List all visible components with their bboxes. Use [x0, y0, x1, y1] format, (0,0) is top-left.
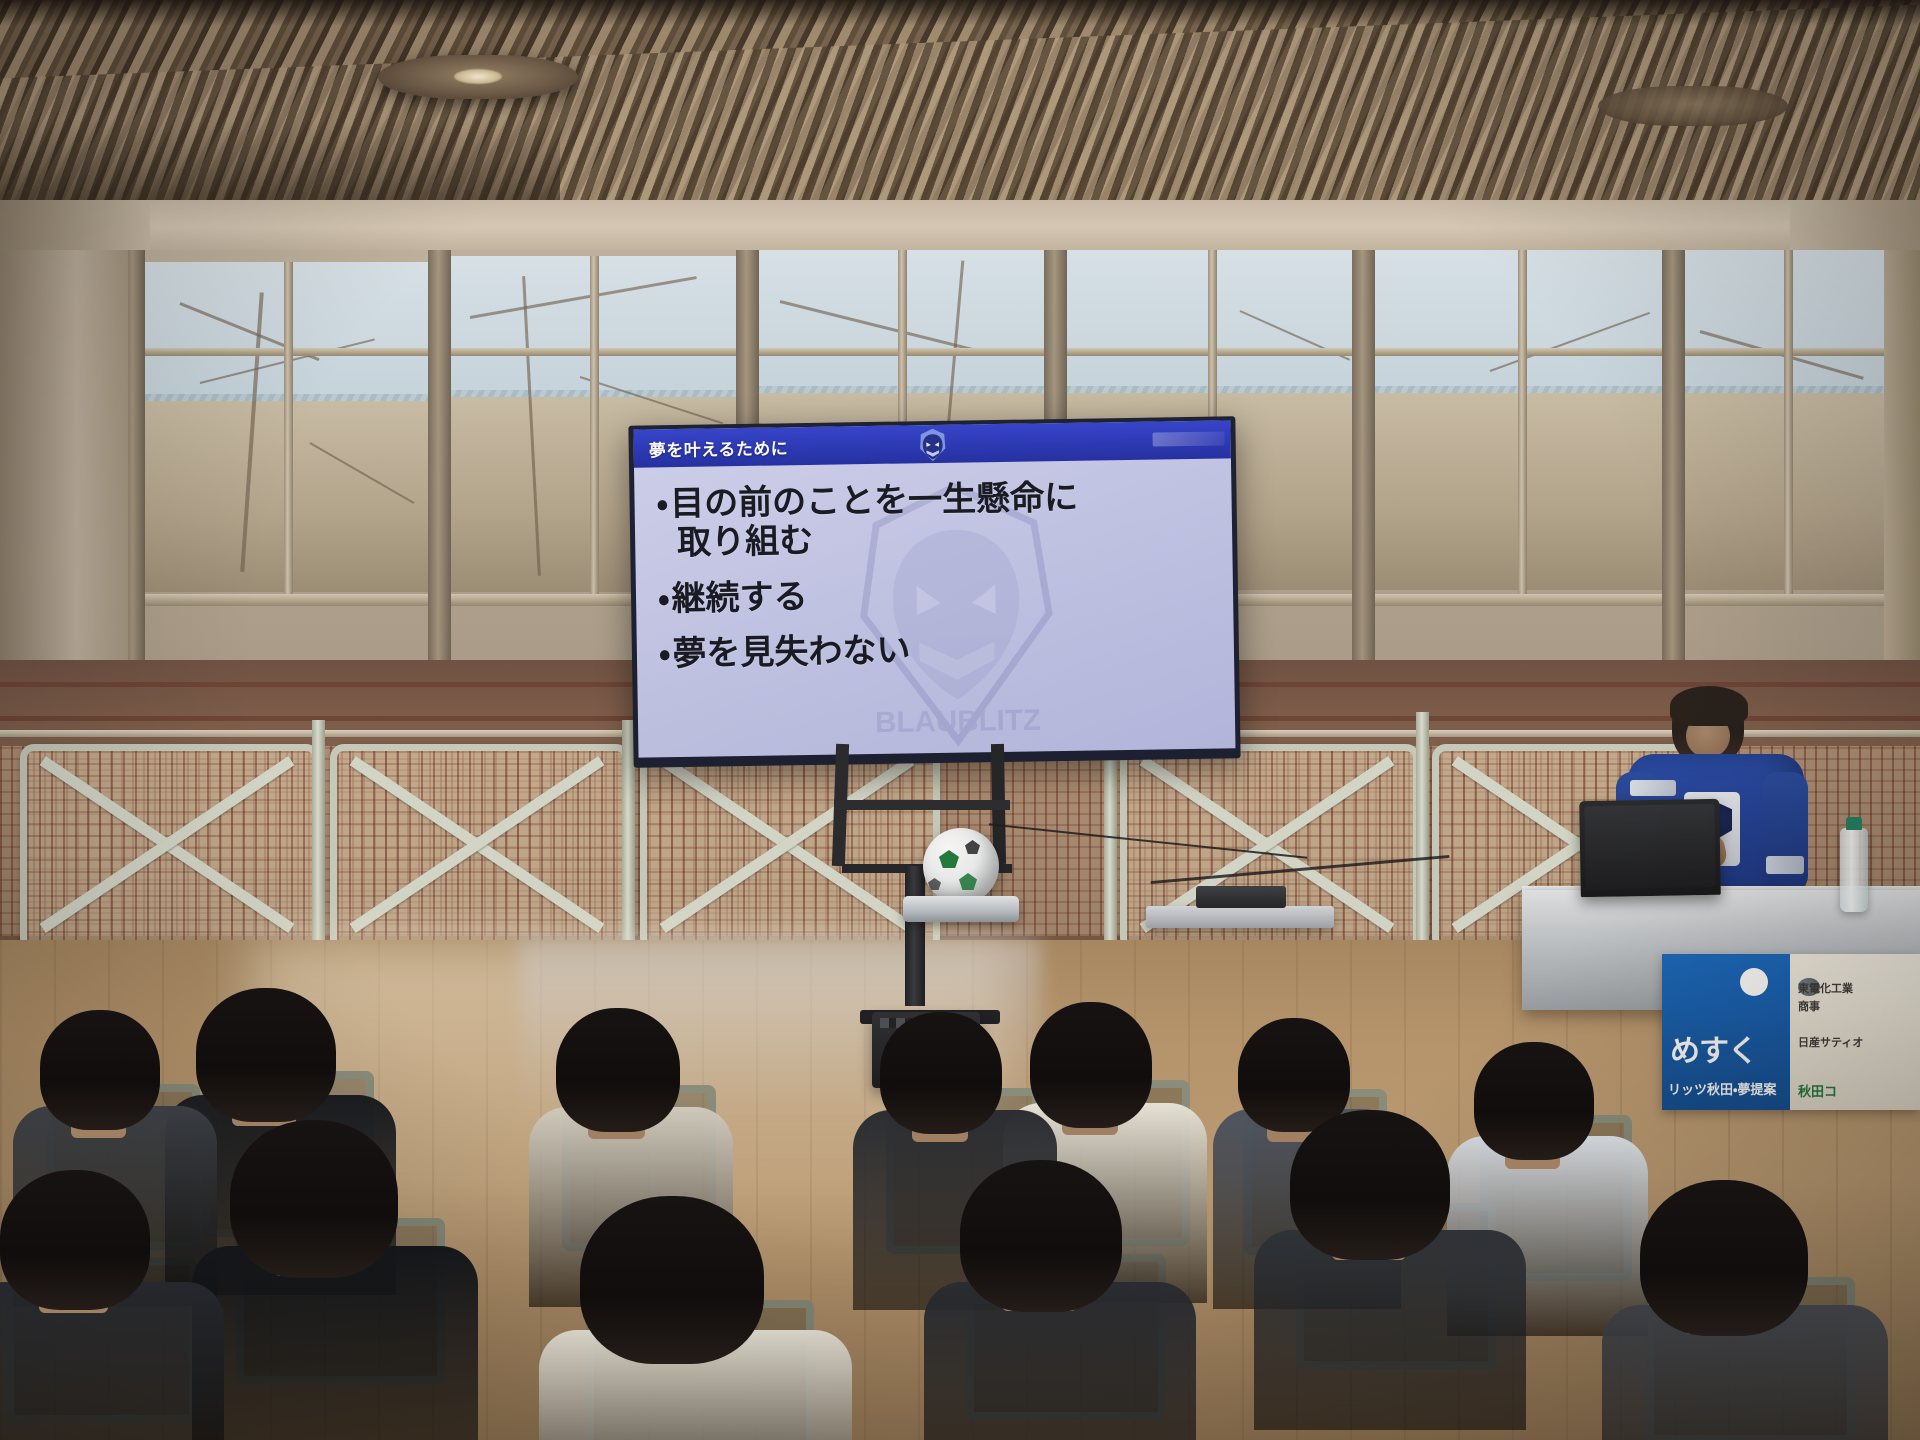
sponsor-line-2: 商事	[1798, 998, 1820, 1014]
guard-panel	[330, 744, 630, 952]
guard-panel	[20, 744, 320, 952]
audience-person	[1640, 1180, 1850, 1440]
audience-person-head	[1474, 1042, 1594, 1160]
audience-person-head	[1030, 1002, 1152, 1128]
av-side-table	[1146, 906, 1334, 928]
ceiling-lamp-secondary-icon	[1598, 86, 1788, 126]
laptop-screen	[1584, 804, 1715, 889]
guard-post	[312, 720, 325, 960]
water-bottle	[1840, 828, 1868, 912]
av-equipment-box	[1196, 886, 1286, 908]
audience-person-head	[1640, 1180, 1808, 1336]
bullet-marker: ・	[658, 580, 670, 618]
banner-brand-main: めすく	[1670, 1026, 1757, 1070]
ball-panel	[928, 878, 941, 890]
window-mullion-horizontal	[130, 348, 1890, 356]
audience-person-head	[40, 1010, 160, 1130]
presenter-laptop[interactable]	[1579, 799, 1721, 897]
bullet-text-1: 目の前のことを一生懸命に	[670, 479, 1079, 523]
ball-panel	[959, 873, 977, 890]
ball-panel	[965, 840, 980, 854]
bullet-text-3: 夢を見失わない	[672, 632, 911, 674]
slide-bullet-3: ・夢を見失わない	[659, 627, 1215, 675]
lamp-bulb	[454, 69, 502, 84]
presenter-sleeve-right	[1762, 772, 1808, 892]
bullet-marker: ・	[656, 485, 668, 523]
bullet-marker: ・	[659, 635, 671, 673]
audience-person	[580, 1196, 810, 1440]
window-frame-post	[428, 250, 451, 670]
jersey-sleeve-badge	[1766, 856, 1804, 874]
audience-person-head	[880, 1012, 1002, 1134]
window-mullion-vertical	[1784, 250, 1793, 594]
slide-bullet-1: ・目の前のことを一生懸命に 取り組む	[656, 477, 1212, 565]
sponsor-line-1: 東電化工業	[1798, 980, 1853, 996]
bottle-cap	[1846, 817, 1862, 830]
audience-person-head	[0, 1170, 150, 1310]
audience-person	[1290, 1110, 1490, 1370]
screen-stand-crossbar	[834, 800, 1010, 810]
slide-body: ・目の前のことを一生懸命に 取り組む ・継続する ・夢を見失わない	[634, 458, 1234, 675]
wall-pillar-right	[1884, 250, 1920, 670]
slide-header-tag	[1153, 431, 1225, 446]
ceiling-lamp-icon	[378, 55, 578, 99]
ball-panel	[939, 850, 959, 868]
bullet-text-1-cont: 取り組む	[677, 516, 1213, 564]
guard-post	[1416, 712, 1429, 960]
presenter-hair	[1670, 686, 1748, 726]
presentation-slide: BLAUBLITZ 夢を叶えるために ・目の前のことを一生懸命に	[633, 420, 1235, 757]
audience-person	[230, 1120, 440, 1380]
slide-title: 夢を叶えるために	[649, 434, 789, 461]
presentation-hall-photo: BLAUBLITZ 夢を叶えるために ・目の前のことを一生懸命に	[0, 0, 1920, 1440]
soccer-ball	[923, 828, 999, 904]
banner-brand-sub: リッツ秋田・夢提案	[1668, 1079, 1776, 1098]
banner-dot-icon	[1740, 968, 1768, 996]
window-frame-post	[1662, 250, 1685, 670]
wall-pillar-left	[0, 250, 128, 670]
audience-person-head	[960, 1160, 1122, 1312]
ceiling-shadow-left	[0, 120, 560, 212]
svg-text:BLAUBLITZ: BLAUBLITZ	[875, 704, 1041, 740]
window-mullion-vertical	[1518, 250, 1527, 594]
bullet-text-2: 継続する	[671, 578, 808, 618]
sponsor-banner: めすく リッツ秋田・夢提案 東電化工業 商事 日産サティオ 秋田コ	[1662, 954, 1920, 1110]
audience-person	[960, 1160, 1160, 1420]
blaublitz-crest-icon	[914, 427, 951, 464]
jersey-shoulder-badge	[1630, 780, 1676, 796]
audience-person-head	[580, 1196, 764, 1364]
sponsor-line-3: 日産サティオ	[1798, 1034, 1863, 1050]
ball-display-stand	[903, 896, 1019, 922]
sponsor-green-text: 秋田コ	[1798, 1081, 1837, 1100]
audience-person-head	[556, 1008, 680, 1132]
slide-bullet-2: ・継続する	[658, 572, 1214, 620]
window-mullion-vertical	[284, 262, 293, 594]
audience-person	[0, 1170, 190, 1430]
window-mullion-vertical	[590, 256, 599, 594]
guard-panel	[640, 744, 940, 952]
audience-person-head	[230, 1120, 398, 1278]
audience-person-head	[1290, 1110, 1450, 1260]
audience-person-shoulders	[1254, 1230, 1526, 1430]
audience-person-head	[196, 988, 336, 1122]
window-frame-post	[1352, 250, 1375, 670]
projection-screen[interactable]: BLAUBLITZ 夢を叶えるために ・目の前のことを一生懸命に	[628, 416, 1240, 767]
ceiling-shadow-top	[0, 0, 1920, 26]
screen-stand-column	[905, 866, 925, 1006]
